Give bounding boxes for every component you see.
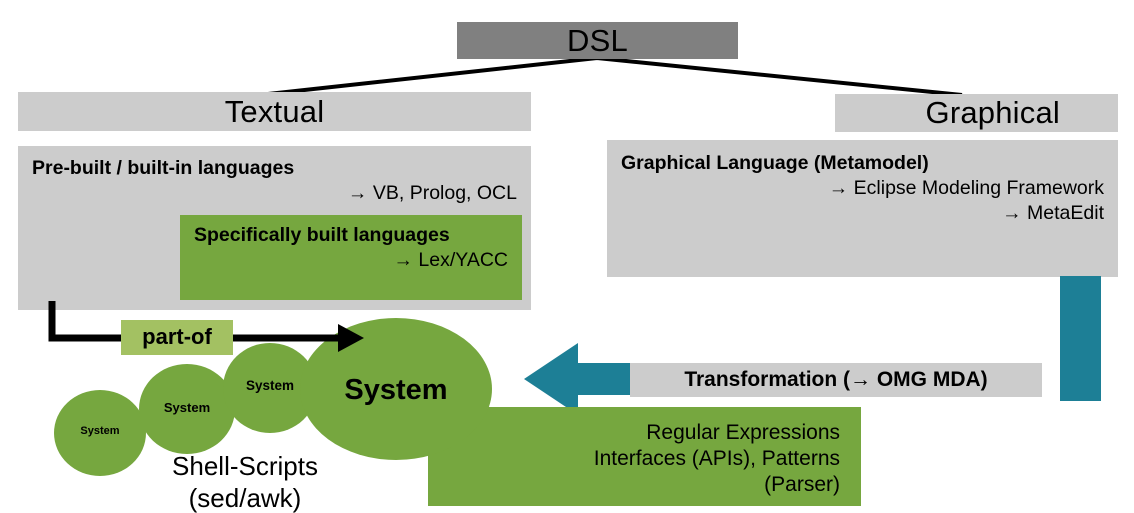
graphical-panel[interactable]: Graphical Language (Metamodel) → Eclipse… (607, 140, 1118, 277)
system-label-text-1: System (80, 425, 119, 437)
system-circle-3-label: System (228, 378, 312, 393)
inner-green-line2: → Lex/YACC (194, 248, 508, 273)
part-of-label: part-of (142, 324, 212, 349)
system-label-text-3: System (246, 378, 294, 393)
graphical-panel-text: Graphical Language (Metamodel) → Eclipse… (621, 151, 1104, 226)
system-label-text-4: System (344, 374, 447, 406)
shell-scripts-caption: Shell-Scripts (sed/awk) (110, 450, 380, 513)
textual-panel-text: Pre-built / built-in languages → VB, Pro… (32, 156, 517, 206)
diagram-canvas: DSL Textual Pre-built / built-in languag… (0, 0, 1134, 513)
system-label-text-2: System (164, 400, 210, 415)
dsl-root-label: DSL (567, 23, 628, 58)
textual-header-label: Textual (225, 94, 325, 129)
system-circle-2-label: System (145, 400, 229, 415)
textual-panel[interactable]: Pre-built / built-in languages → VB, Pro… (18, 146, 531, 310)
textual-panel-line2: → VB, Prolog, OCL (32, 181, 517, 206)
textual-header-box[interactable]: Textual (18, 92, 531, 131)
part-of-box[interactable]: part-of (121, 320, 233, 355)
shell-scripts-line1: Shell-Scripts (110, 450, 380, 482)
system-circle-4-label: System (330, 374, 462, 407)
shell-scripts-line2: (sed/awk) (110, 482, 380, 513)
transformation-label: Transformation (→ OMG MDA) (684, 368, 987, 391)
transformation-box[interactable]: Transformation (→ OMG MDA) (630, 363, 1042, 397)
graphical-panel-line2: → Eclipse Modeling Framework (621, 176, 1104, 201)
graphical-panel-line3: → MetaEdit (621, 201, 1104, 226)
graphical-panel-line1: Graphical Language (Metamodel) (621, 151, 1104, 176)
connector-polyline (268, 58, 962, 95)
system-circle-1-label: System (60, 425, 140, 437)
graphical-header-box[interactable]: Graphical (835, 94, 1118, 132)
inner-green-line1: Specifically built languages (194, 223, 508, 248)
graphical-header-label: Graphical (926, 95, 1060, 130)
textual-panel-line1: Pre-built / built-in languages (32, 156, 517, 181)
dsl-root-box[interactable]: DSL (457, 22, 738, 59)
specifically-built-languages-text: Specifically built languages → Lex/YACC (194, 223, 508, 273)
specifically-built-languages-box[interactable]: Specifically built languages → Lex/YACC (180, 215, 522, 300)
graphical-to-transformation-bar (1060, 276, 1101, 401)
